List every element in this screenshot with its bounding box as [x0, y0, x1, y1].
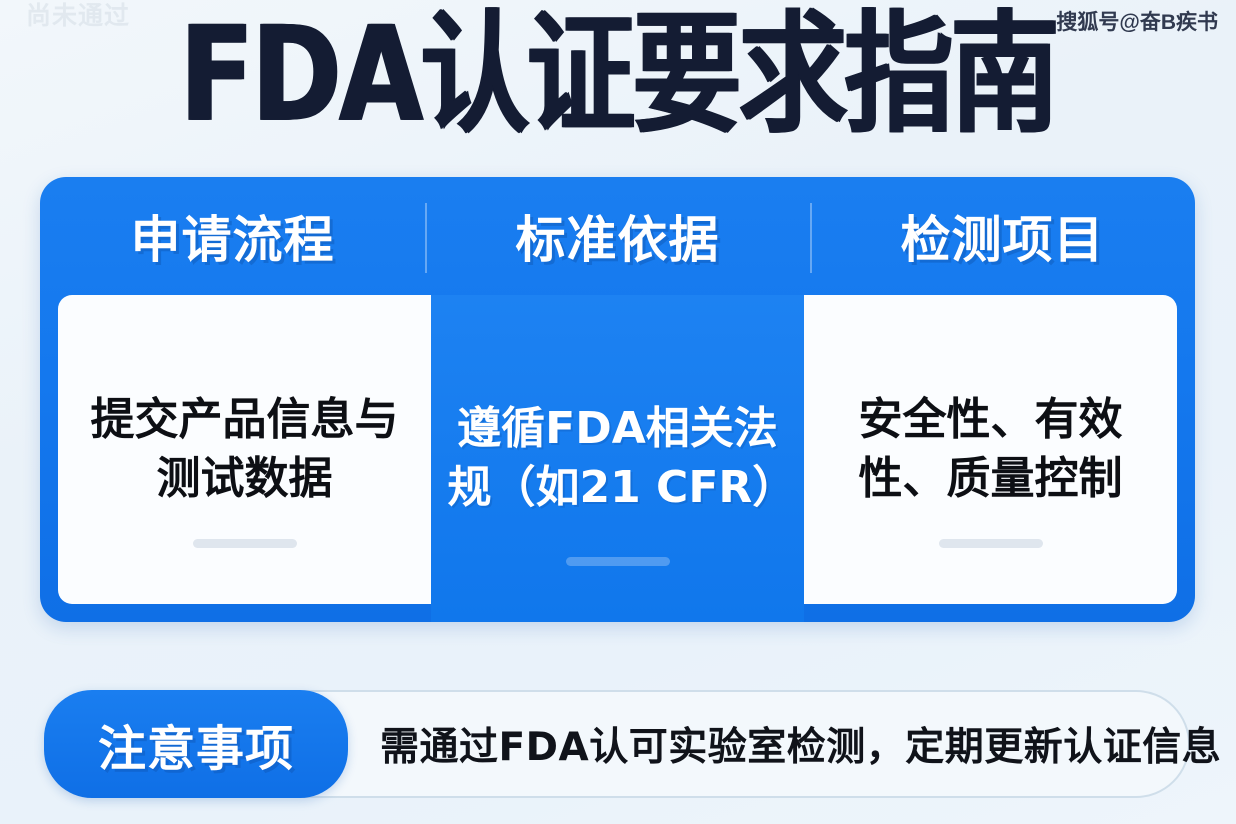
header-cell-standard-basis: 标准依据 — [425, 177, 810, 295]
header-label-application-process: 申请流程 — [131, 200, 335, 272]
site-watermark: 搜狐号@奋B疾书 — [1056, 6, 1218, 36]
header-cell-application-process: 申请流程 — [40, 177, 425, 295]
notice-badge-label: 注意事项 — [98, 709, 294, 779]
card-text-application-process: 提交产品信息与测试数据 — [75, 391, 415, 507]
notice-badge: 注意事项 — [44, 690, 348, 798]
notice-bar: 注意事项 需通过FDA认可实验室检测，定期更新认证信息 — [48, 690, 1190, 798]
page-title: FDA认证要求指南 — [179, 10, 1056, 142]
notice-text: 需通过FDA认可实验室检测，定期更新认证信息 — [380, 716, 1221, 772]
card-text-standard-basis: 遵循FDA相关法规（如21 CFR） — [448, 400, 788, 516]
page-title-container: FDA认证要求指南 — [0, 6, 1236, 146]
card-text-test-items: 安全性、有效性、质量控制 — [821, 391, 1161, 507]
header-label-standard-basis: 标准依据 — [516, 200, 720, 272]
card-divider-standard-basis — [566, 557, 670, 566]
panel-header-row: 申请流程 标准依据 检测项目 — [40, 177, 1195, 295]
card-test-items: 安全性、有效性、质量控制 — [804, 295, 1177, 604]
card-standard-basis: 遵循FDA相关法规（如21 CFR） — [431, 295, 804, 622]
card-divider-application-process — [193, 539, 297, 548]
infographic-page: { "page": { "title": "FDA认证要求指南", "backg… — [0, 0, 1236, 824]
card-divider-test-items — [939, 539, 1043, 548]
comparison-panel: 申请流程 标准依据 检测项目 提交产品信息与测试数据 遵循FDA相关法规（如21… — [40, 177, 1195, 622]
header-label-test-items: 检测项目 — [901, 200, 1105, 272]
panel-body-row: 提交产品信息与测试数据 遵循FDA相关法规（如21 CFR） 安全性、有效性、质… — [40, 295, 1195, 622]
header-cell-test-items: 检测项目 — [810, 177, 1195, 295]
card-application-process: 提交产品信息与测试数据 — [58, 295, 431, 604]
